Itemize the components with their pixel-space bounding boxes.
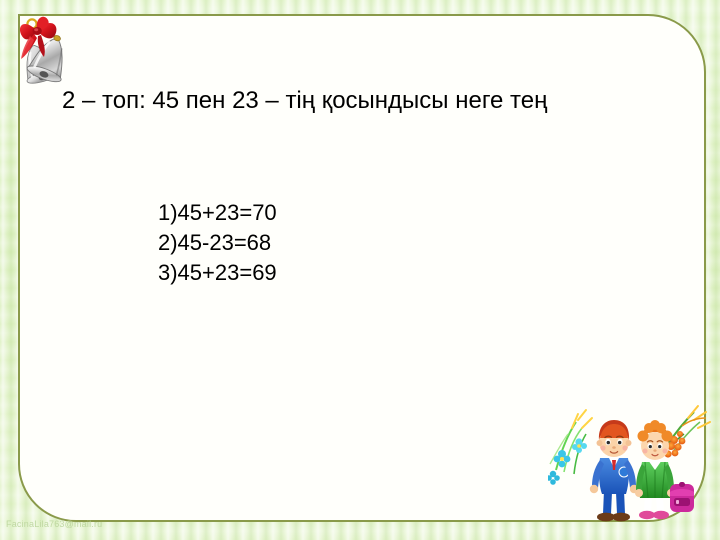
answer-option-2[interactable]: 2)45-23=68 bbox=[158, 228, 277, 258]
slide-root: 2 – топ: 45 пен 23 – тің қосындысы неге … bbox=[0, 0, 720, 540]
answer-option-3[interactable]: 3)45+23=69 bbox=[158, 258, 277, 288]
watermark-text: FacinaLila763@mail.ru bbox=[6, 519, 102, 530]
question-title: 2 – топ: 45 пен 23 – тің қосындысы неге … bbox=[62, 86, 662, 116]
answer-options-list: 1)45+23=70 2)45-23=68 3)45+23=69 bbox=[158, 198, 277, 288]
answer-option-1[interactable]: 1)45+23=70 bbox=[158, 198, 277, 228]
